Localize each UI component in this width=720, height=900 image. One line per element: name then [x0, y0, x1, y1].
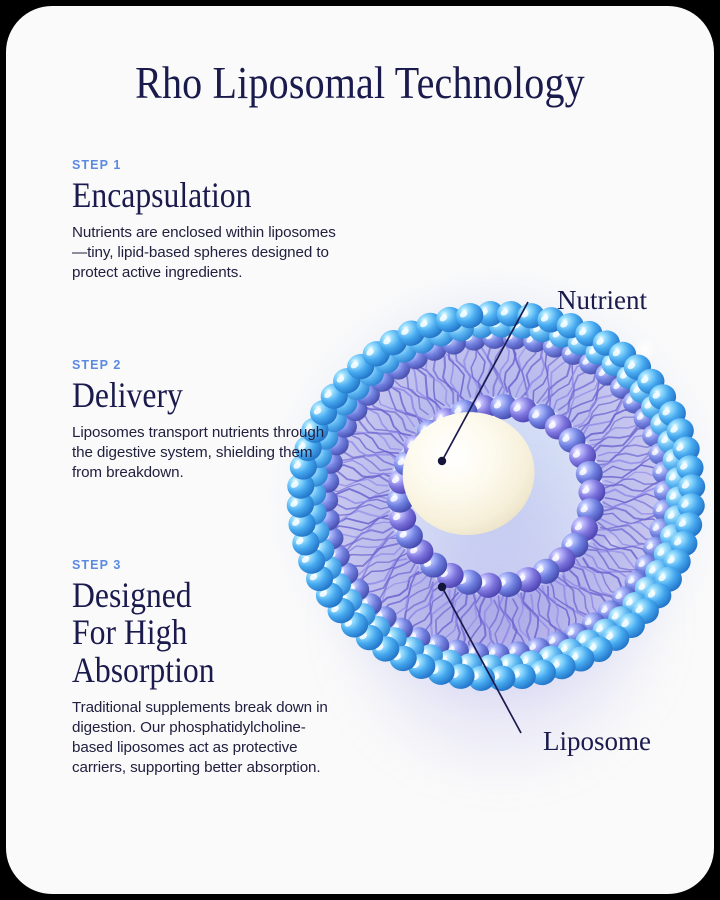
step-body-3: Traditional supplements break down in di…: [72, 698, 340, 778]
step-label-2: STEP 2: [72, 358, 340, 372]
step-label-1: STEP 1: [72, 158, 340, 172]
step-section-2: STEP 2 Delivery Liposomes transport nutr…: [72, 358, 340, 483]
step-heading-2: Delivery: [72, 377, 308, 414]
step-heading-1: Encapsulation: [72, 177, 308, 214]
step-body-2: Liposomes transport nutrients through th…: [72, 423, 340, 483]
page-title: Rho Liposomal Technology: [52, 58, 668, 108]
infographic-card: Rho Liposomal Technology STEP 1 Encapsul…: [6, 6, 714, 894]
annotation-label-liposome: Liposome: [543, 726, 651, 757]
step-section-3: STEP 3 Designed For High Absorption Trad…: [72, 558, 340, 778]
step-section-1: STEP 1 Encapsulation Nutrients are enclo…: [72, 158, 340, 283]
annotation-label-nutrient: Nutrient: [557, 285, 647, 316]
step-body-1: Nutrients are enclosed within liposomes—…: [72, 223, 340, 283]
liposome-illustration: [282, 282, 712, 712]
step-heading-3: Designed For High Absorption: [72, 577, 308, 689]
step-label-3: STEP 3: [72, 558, 340, 572]
